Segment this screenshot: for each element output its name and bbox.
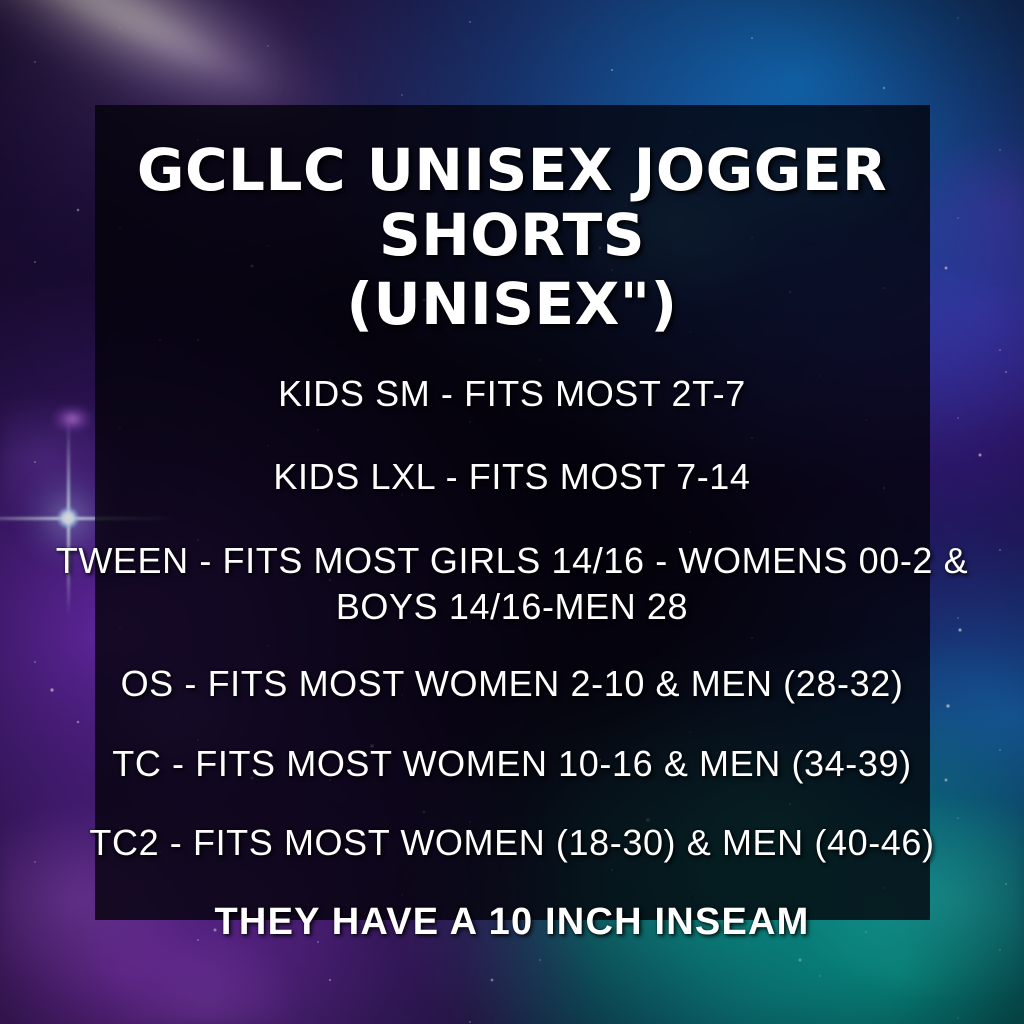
sizing-line-os: OS - FITS MOST WOMEN 2-10 & MEN (28-32) [121, 661, 904, 706]
sizing-line-tc: TC - FITS MOST WOMEN 10-16 & MEN (34-39) [112, 741, 911, 786]
sizing-line-tc2: TC2 - FITS MOST WOMEN (18-30) & MEN (40-… [89, 820, 934, 865]
poster-text-content: GCLLC UNISEX JOGGER SHORTS (UNISEX") KID… [0, 0, 1024, 1024]
sizing-chart-list: KIDS SM - FITS MOST 2T-7 KIDS LXL - FITS… [0, 371, 1024, 947]
poster-subtitle: (UNISEX") [346, 272, 677, 337]
sizing-line-tween: TWEEN - FITS MOST GIRLS 14/16 - WOMENS 0… [47, 538, 977, 632]
poster-canvas: GCLLC UNISEX JOGGER SHORTS (UNISEX") KID… [0, 0, 1024, 1024]
poster-title: GCLLC UNISEX JOGGER SHORTS [32, 138, 992, 268]
sizing-line-kids-sm: KIDS SM - FITS MOST 2T-7 [278, 371, 746, 416]
sizing-line-kids-lxl: KIDS LXL - FITS MOST 7-14 [273, 454, 750, 499]
inseam-note: THEY HAVE A 10 INCH INSEAM [215, 899, 810, 947]
